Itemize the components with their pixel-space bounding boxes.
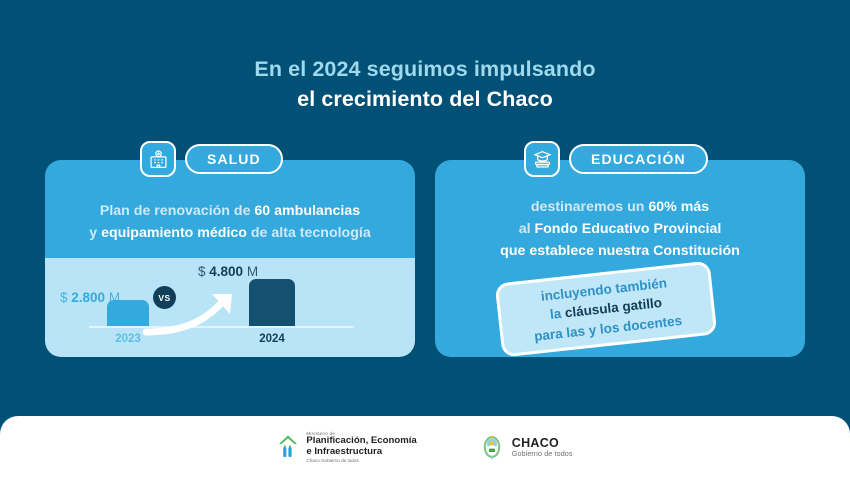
number-2023: 2.800 (71, 290, 105, 305)
axis-label-2024: 2024 (241, 333, 303, 345)
ministry-house-icon (277, 434, 299, 460)
salud-text-d: equipamiento médico (101, 225, 247, 241)
edu-text-a: destinaremos un (531, 199, 648, 215)
card-salud-line-2: y equipamiento médico de alta tecnología (59, 222, 401, 244)
bar-2024 (249, 279, 295, 326)
bar-value-2023: $ 2.800 M (60, 290, 120, 305)
ministry-logo-text: Ministerio de Planificación, Economía e … (306, 431, 416, 464)
sticker-text-a: la (549, 306, 566, 323)
chaco-coat-of-arms-icon (479, 432, 505, 462)
vs-badge-label: VS (158, 293, 170, 303)
badge-row-educacion: EDUCACIÓN (524, 141, 708, 177)
educacion-line-2: al Fondo Educativo Provincial (449, 218, 791, 240)
axis-label-2023: 2023 (97, 333, 159, 345)
bar-value-2024: $ 4.800 M (198, 264, 258, 279)
currency-2023: $ (60, 290, 68, 305)
infographic-stage: En el 2024 seguimos impulsando el crecim… (0, 0, 850, 478)
unit-2024: M (247, 264, 258, 279)
chaco-logo-text: CHACO Gobierno de todos (512, 436, 573, 458)
salud-text-b: 60 ambulancias (254, 203, 360, 219)
badge-salud-label: SALUD (207, 151, 261, 167)
card-salud-line-1: Plan de renovación de 60 ambulancias (59, 200, 401, 222)
badge-salud: SALUD (185, 144, 283, 174)
title-line-2: el crecimiento del Chaco (0, 86, 850, 114)
salud-text-a: Plan de renovación de (100, 203, 255, 219)
edu-text-c: al (519, 221, 535, 237)
educacion-line-3: que establece nuestra Constitución (449, 240, 791, 262)
edu-text-d: Fondo Educativo Provincial (534, 221, 721, 237)
badge-educacion: EDUCACIÓN (569, 144, 708, 174)
badge-educacion-label: EDUCACIÓN (591, 151, 686, 167)
card-salud: Plan de renovación de 60 ambulancias y e… (45, 160, 415, 357)
hospital-building-icon (140, 141, 176, 177)
salud-text-e: de alta tecnología (247, 225, 371, 241)
bar-chart: $ 2.800 M $ 4.800 M VS 2023 2024 (45, 258, 415, 357)
chaco-subtitle: Gobierno de todos (512, 450, 573, 458)
ministry-name-line-1: Planificación, Economía (306, 436, 416, 447)
edu-text-b: 60% más (648, 199, 709, 215)
salud-chart-panel: $ 2.800 M $ 4.800 M VS 2023 2024 (45, 258, 415, 357)
salud-text-c: y (89, 225, 101, 241)
graduation-books-icon (524, 141, 560, 177)
sticker-text: incluyendo también la cláusula gatillo p… (523, 272, 689, 346)
ministry-subtitle: Chaco Gobierno de todos (306, 458, 416, 463)
vs-badge: VS (153, 286, 176, 309)
chaco-name: CHACO (512, 436, 573, 450)
page-title: En el 2024 seguimos impulsando el crecim… (0, 56, 850, 113)
title-line-1: En el 2024 seguimos impulsando (0, 56, 850, 84)
number-2024: 4.800 (209, 264, 243, 279)
footer-bar: Ministerio de Planificación, Economía e … (0, 416, 850, 478)
badge-row-salud: SALUD (140, 141, 283, 177)
edu-text-e: que establece nuestra Constitución (500, 243, 740, 259)
educacion-line-1: destinaremos un 60% más (449, 196, 791, 218)
currency-2024: $ (198, 264, 206, 279)
unit-2023: M (109, 290, 120, 305)
ministry-logo: Ministerio de Planificación, Economía e … (277, 431, 416, 464)
ministry-name-line-2: e Infraestructura (306, 447, 416, 458)
chaco-logo: CHACO Gobierno de todos (479, 432, 573, 462)
